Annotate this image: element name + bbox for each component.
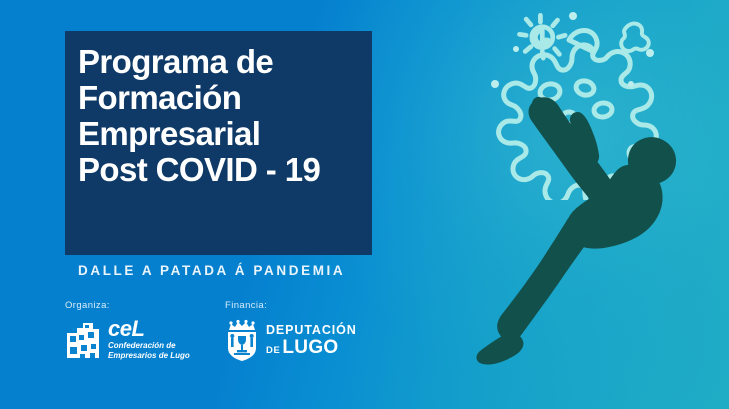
- page-title: Programa de Formación Empresarial Post C…: [78, 44, 368, 188]
- kicking-person-silhouette-icon: [476, 97, 676, 365]
- particle-dot-icon: [513, 46, 519, 52]
- person-illustration: [419, 95, 729, 409]
- virus-blob-icon: [621, 24, 648, 52]
- small-virus-icon: [520, 15, 566, 58]
- poster-canvas: Programa de Formación Empresarial Post C…: [0, 0, 729, 409]
- cel-logo-subtitle: Confederación de Empresarios de Lugo: [108, 341, 190, 360]
- particle-dot-icon: [628, 81, 634, 87]
- cel-logo-name: ceL: [108, 319, 190, 339]
- particle-dot-icon: [569, 12, 577, 20]
- sponsor-organiza: Organiza:: [65, 300, 190, 360]
- financia-label: Financia:: [225, 300, 357, 311]
- particle-dot-icon: [491, 80, 499, 88]
- deputacion-line1: DEPUTACIÓN: [266, 324, 357, 337]
- cel-building-icon: [65, 320, 101, 360]
- organiza-label: Organiza:: [65, 300, 190, 311]
- sponsor-financia: Financia:: [225, 300, 357, 361]
- tagline-text: DALLE A PATADA Á PANDEMIA: [78, 263, 345, 278]
- artwork-group: [419, 0, 729, 409]
- deputacion-lugo: LUGO: [282, 338, 338, 357]
- sponsor-logos: Organiza:: [65, 300, 395, 380]
- deputacion-de: DE: [266, 346, 280, 356]
- lugo-crest-icon: [225, 319, 259, 361]
- particle-dot-icon: [646, 49, 654, 57]
